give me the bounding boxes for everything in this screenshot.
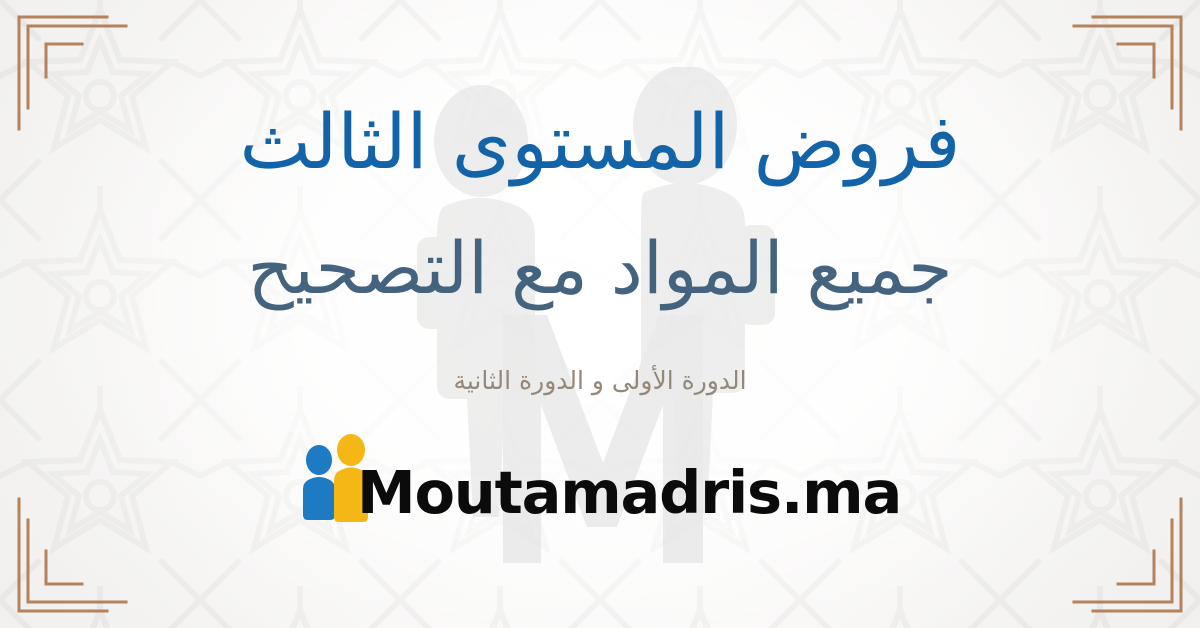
poster-content: فروض المستوى الثالث جميع المواد مع التصح…: [0, 0, 1200, 628]
poster-canvas: فروض المستوى الثالث جميع المواد مع التصح…: [0, 0, 1200, 628]
title-line-1: فروض المستوى الثالث: [240, 104, 961, 180]
logo-text: Moutamadris.ma: [357, 463, 901, 522]
title-line-2: جميع المواد مع التصحيح: [247, 232, 952, 304]
poster-subtitle: الدورة الأولى و الدورة الثانية: [453, 366, 746, 396]
site-logo[interactable]: Moutamadris.ma: [299, 434, 901, 522]
